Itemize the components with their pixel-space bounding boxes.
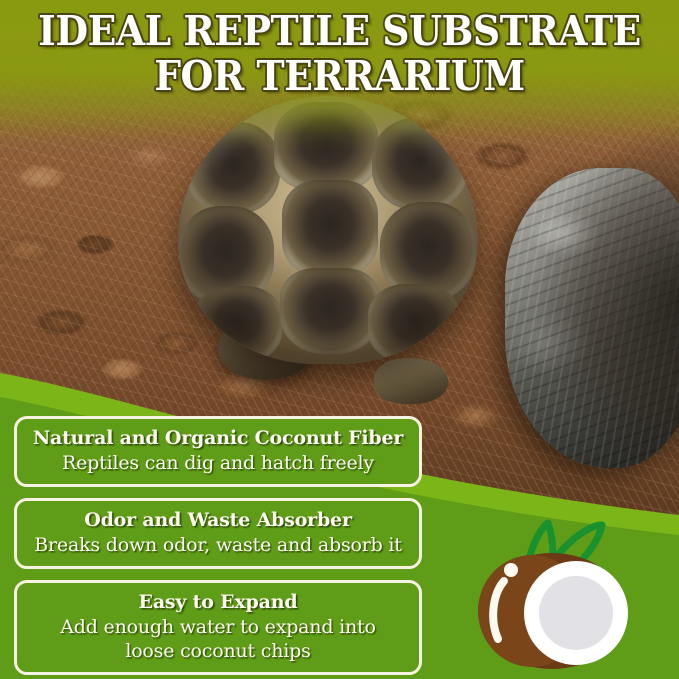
feature-title: Odor and Waste Absorber [27,508,409,533]
header-banner: IDEAL REPTILE SUBSTRATE FOR TERRARIUM [0,0,679,104]
coconut-highlight-dot [504,563,518,577]
page-title-line2: FOR TERRARIUM [27,54,652,99]
feature-title: Natural and Organic Coconut Fiber [27,426,409,451]
feature-box-natural-organic: Natural and Organic Coconut Fiber Reptil… [14,416,422,487]
feature-box-odor-absorber: Odor and Waste Absorber Breaks down odor… [14,498,422,569]
feature-description: Reptiles can dig and hatch freely [27,451,409,475]
product-infographic: IDEAL REPTILE SUBSTRATE FOR TERRARIUM Na… [0,0,679,679]
feature-list: Natural and Organic Coconut Fiber Reptil… [14,416,422,679]
feature-description-line1: Add enough water to expand into [27,615,409,639]
feature-description: Breaks down odor, waste and absorb it [27,533,409,557]
feature-description-line2: loose coconut chips [27,639,409,663]
feature-title: Easy to Expand [27,590,409,615]
coconut-icon [466,519,666,671]
page-title-line1: IDEAL REPTILE SUBSTRATE [27,9,652,54]
feature-box-easy-to-expand: Easy to Expand Add enough water to expan… [14,580,422,675]
coconut-core [539,576,613,650]
